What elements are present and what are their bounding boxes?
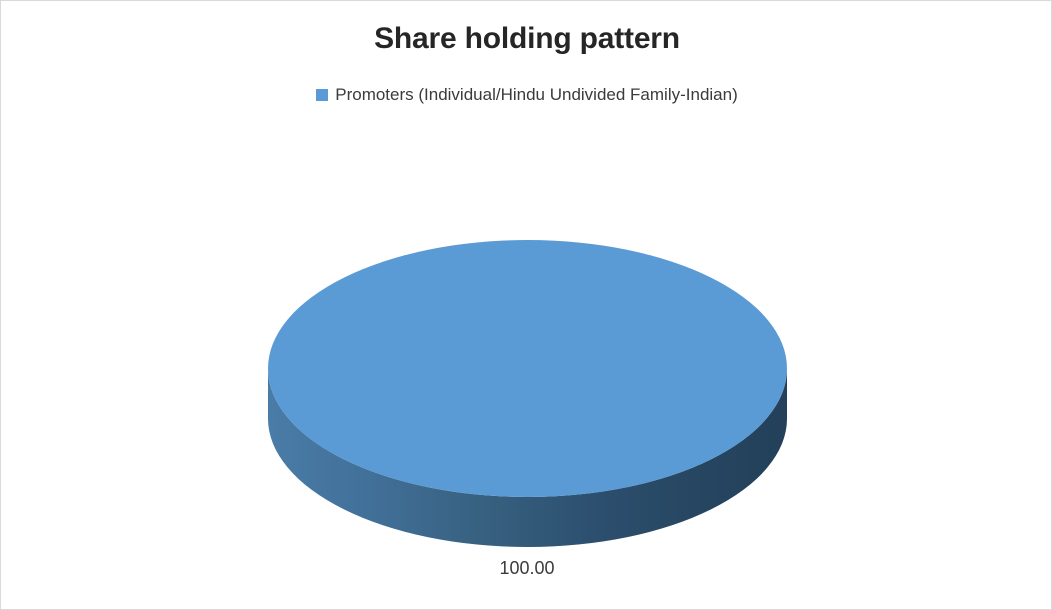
legend-item-label: Promoters (Individual/Hindu Undivided Fa… (335, 85, 738, 105)
legend-item-promoters[interactable]: Promoters (Individual/Hindu Undivided Fa… (316, 85, 738, 105)
pie-data-label: 100.00 (1, 557, 1052, 579)
pie-slice-promoters[interactable] (268, 240, 787, 497)
pie-slice-side-wall (268, 369, 787, 548)
chart-legend: Promoters (Individual/Hindu Undivided Fa… (1, 85, 1052, 105)
chart-title: Share holding pattern (1, 19, 1052, 59)
chart-container: Share holding pattern Promoters (Individ… (0, 0, 1052, 610)
square-marker-icon (316, 89, 328, 101)
